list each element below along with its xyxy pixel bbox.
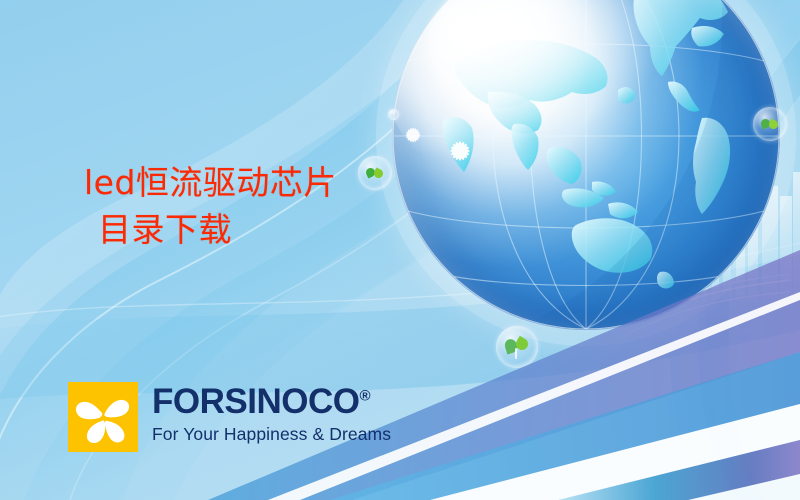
bubble-stem	[515, 348, 517, 359]
banner-canvas: led恒流驱动芯片 目录下载 FORSINOCO® For Your Happi…	[0, 0, 800, 500]
headline-block: led恒流驱动芯片 目录下载	[84, 160, 484, 254]
logo-tagline: For Your Happiness & Dreams	[152, 426, 391, 444]
headline-line-1: led恒流驱动芯片	[84, 160, 484, 207]
bubble-right	[753, 107, 787, 141]
bubble-leaf-lime	[768, 119, 780, 131]
pinwheel-flower-icon	[68, 382, 138, 452]
bubble-lower	[496, 326, 538, 368]
logo-brand-text: FORSINOCO	[152, 382, 359, 421]
sparkle-icon-a	[400, 122, 426, 148]
logo-wordmark-block: FORSINOCO® For Your Happiness & Dreams	[152, 382, 391, 444]
headline-line-2: 目录下载	[98, 207, 484, 254]
logo-brand-name: FORSINOCO®	[152, 384, 371, 419]
forsinoco-logo[interactable]: FORSINOCO® For Your Happiness & Dreams	[68, 382, 391, 452]
bubble-tiny	[388, 109, 399, 120]
registered-mark-icon: ®	[359, 387, 370, 404]
